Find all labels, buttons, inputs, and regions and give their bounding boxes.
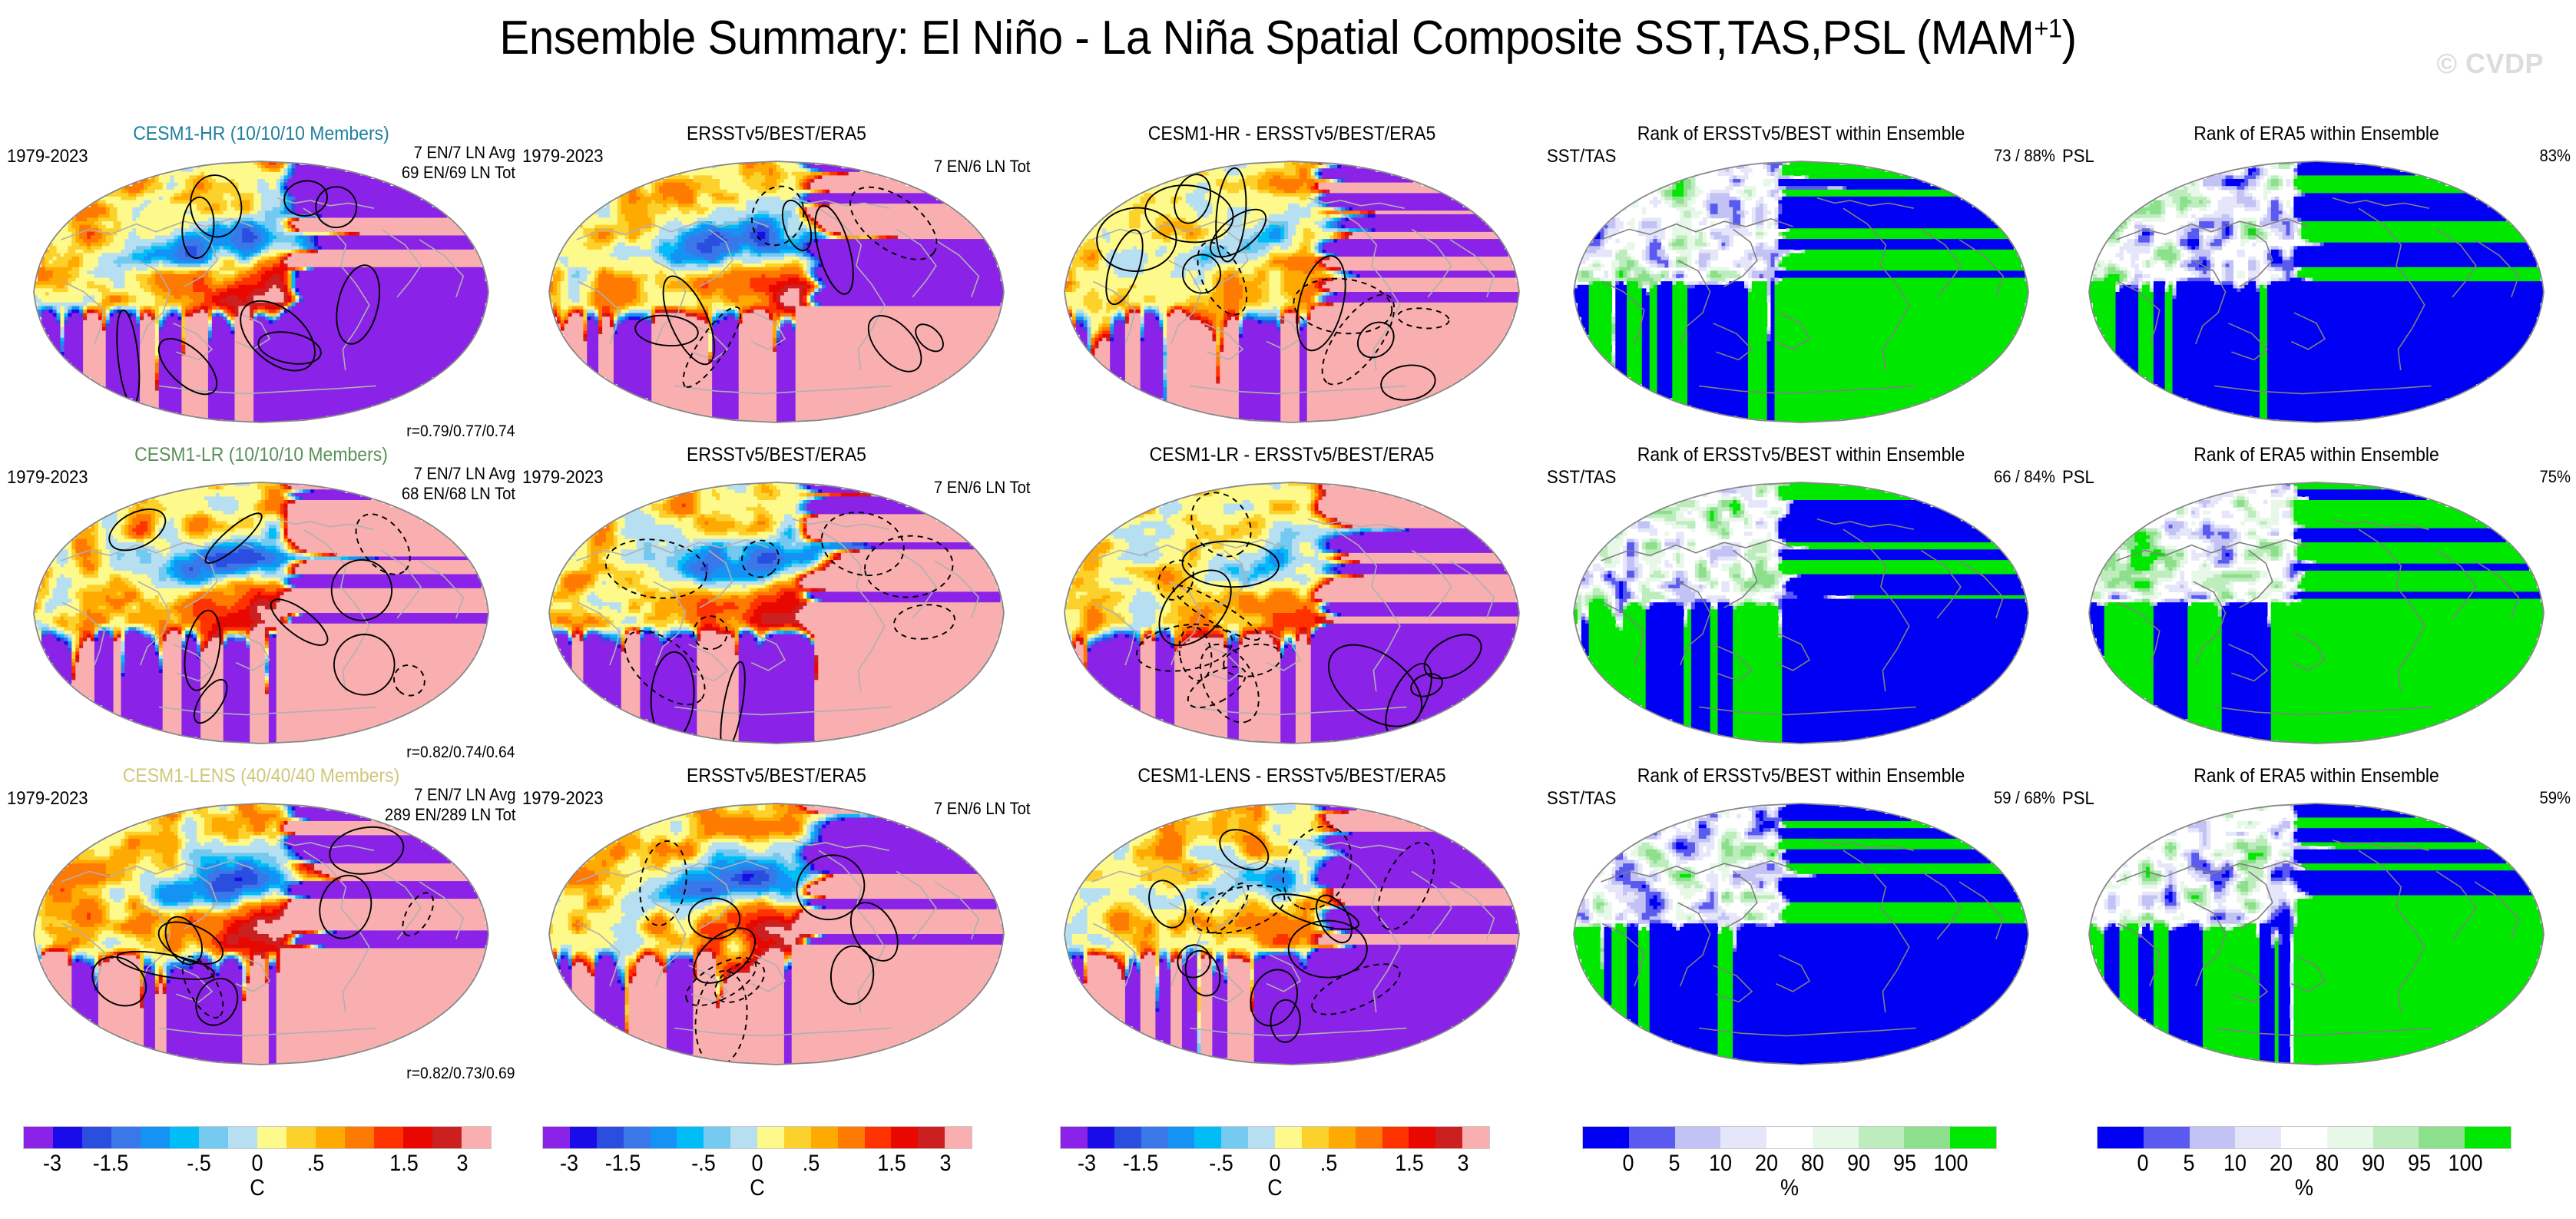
colorbar-tick: 100 xyxy=(1933,1151,1968,1177)
colorbar-swatch-13 xyxy=(891,1127,918,1148)
colorbar-tick-labels: -3-1.5-.50.51.53 xyxy=(542,1149,972,1175)
panel-title: CESM1-LENS (40/40/40 Members) xyxy=(25,765,498,787)
colorbar-swatch-11 xyxy=(345,1127,374,1148)
map-panel-r3-c4: Rank of ERSSTv5/BEST within EnsembleSST/… xyxy=(1544,765,2058,1086)
colorbar-tick-labels: -3-1.5-.50.51.53 xyxy=(23,1149,492,1175)
page-title-superscript: +1 xyxy=(2034,14,2061,43)
panel-title: CESM1-LENS - ERSSTv5/BEST/ERA5 xyxy=(1055,765,1528,787)
colorbar-swatch-14 xyxy=(918,1127,945,1148)
colorbar-tick: 90 xyxy=(2362,1151,2385,1177)
colorbar-swatch-4 xyxy=(141,1127,170,1148)
colorbar-tick: 100 xyxy=(2448,1151,2482,1177)
colorbar-swatch-11 xyxy=(838,1127,865,1148)
colorbar-5-rank: 051020809095100% xyxy=(2097,1126,2511,1175)
map-panel-r2-c2: ERSSTv5/BEST/ERA51979-20237 EN/6 LN Tot xyxy=(519,444,1034,765)
colorbar-unit-label: C xyxy=(250,1175,265,1201)
colorbar-swatch-3 xyxy=(1141,1127,1168,1148)
panel-title: CESM1-HR (10/10/10 Members) xyxy=(25,123,498,145)
globe-map xyxy=(1571,479,2031,747)
colorbar-tick: 0 xyxy=(2137,1151,2148,1177)
colorbar-unit-label: C xyxy=(1267,1175,1283,1201)
colorbar-swatch-3 xyxy=(1720,1127,1766,1148)
colorbar-swatch-15 xyxy=(945,1127,972,1148)
colorbar-swatch-7 xyxy=(730,1127,757,1148)
colorbar-swatch-6 xyxy=(704,1127,730,1148)
globe-map xyxy=(31,479,492,747)
colorbar-3-temperature: -3-1.5-.50.51.53C xyxy=(1060,1126,1490,1175)
colorbar-tick: 20 xyxy=(2270,1151,2293,1177)
colorbar-tick: 90 xyxy=(1847,1151,1870,1177)
colorbar-swatch-14 xyxy=(432,1127,462,1148)
colorbar-4-rank: 051020809095100% xyxy=(1582,1126,1997,1175)
colorbar-swatch-8 xyxy=(1950,1127,1996,1148)
colorbar-swatch-4 xyxy=(1766,1127,1813,1148)
map-panel-r3-c2: ERSSTv5/BEST/ERA51979-20237 EN/6 LN Tot xyxy=(519,765,1034,1086)
globe-map xyxy=(2086,479,2547,747)
colorbar-swatch-15 xyxy=(462,1127,491,1148)
panel-title: CESM1-LR (10/10/10 Members) xyxy=(25,444,498,466)
colorbar-swatch-7 xyxy=(2419,1127,2465,1148)
map-panel-r3-c3: CESM1-LENS - ERSSTv5/BEST/ERA5 xyxy=(1035,765,1549,1086)
colorbar-tick: -1.5 xyxy=(1123,1151,1159,1177)
colorbar-tick: 95 xyxy=(2408,1151,2431,1177)
colorbar-tick: 3 xyxy=(456,1151,468,1177)
colorbar-swatch-0 xyxy=(2098,1127,2144,1148)
colorbar-swatch-3 xyxy=(111,1127,141,1148)
colorbar-tick: -.5 xyxy=(691,1151,716,1177)
colorbar-swatches xyxy=(2097,1126,2511,1149)
colorbar-swatch-13 xyxy=(403,1127,432,1148)
colorbar-swatch-1 xyxy=(2144,1127,2190,1148)
map-panel-r2-c4: Rank of ERSSTv5/BEST within EnsembleSST/… xyxy=(1544,444,2058,765)
colorbar-tick: .5 xyxy=(307,1151,325,1177)
globe-map xyxy=(2086,158,2547,426)
globe-map xyxy=(1061,800,1522,1068)
colorbar-tick: 10 xyxy=(2223,1151,2247,1177)
globe-map xyxy=(1571,158,2031,426)
colorbar-swatch-12 xyxy=(1382,1127,1409,1148)
globe-map xyxy=(1061,158,1522,426)
colorbar-tick: 80 xyxy=(2316,1151,2339,1177)
colorbar-tick: -.5 xyxy=(1209,1151,1233,1177)
map-panel-r3-c5: Rank of ERA5 within EnsemblePSL59% xyxy=(2059,765,2574,1086)
colorbar-tick-labels: -3-1.5-.50.51.53 xyxy=(1060,1149,1490,1175)
colorbar-tick: 1.5 xyxy=(877,1151,906,1177)
colorbar-tick: 20 xyxy=(1755,1151,1778,1177)
map-panel-r2-c5: Rank of ERA5 within EnsemblePSL75% xyxy=(2059,444,2574,765)
colorbar-swatch-10 xyxy=(316,1127,345,1148)
colorbar-swatch-1 xyxy=(1629,1127,1675,1148)
colorbar-swatch-5 xyxy=(1194,1127,1221,1148)
colorbar-swatch-8 xyxy=(757,1127,784,1148)
colorbar-tick: 1.5 xyxy=(389,1151,419,1177)
colorbar-swatch-13 xyxy=(1409,1127,1435,1148)
page-title: Ensemble Summary: El Niño - La Niña Spat… xyxy=(78,11,2499,65)
colorbar-swatch-7 xyxy=(1904,1127,1950,1148)
panel-title: Rank of ERA5 within Ensemble xyxy=(2080,123,2553,145)
panel-title: CESM1-HR - ERSSTv5/BEST/ERA5 xyxy=(1055,123,1528,145)
panel-title: Rank of ERSSTv5/BEST within Ensemble xyxy=(1564,444,2038,466)
colorbar-swatch-0 xyxy=(24,1127,53,1148)
map-panel-r2-c3: CESM1-LR - ERSSTv5/BEST/ERA5 xyxy=(1035,444,1549,765)
colorbar-swatch-9 xyxy=(784,1127,811,1148)
map-panel-r1-c5: Rank of ERA5 within EnsemblePSL83% xyxy=(2059,123,2574,444)
globe-map xyxy=(31,158,492,426)
colorbar-swatch-14 xyxy=(1435,1127,1462,1148)
colorbar-swatch-5 xyxy=(677,1127,704,1148)
globe-map xyxy=(2086,800,2547,1068)
panel-title: ERSSTv5/BEST/ERA5 xyxy=(540,444,1013,466)
colorbar-swatch-1 xyxy=(570,1127,597,1148)
colorbar-tick: -1.5 xyxy=(93,1151,129,1177)
colorbar-tick: 3 xyxy=(1457,1151,1468,1177)
colorbar-swatch-2 xyxy=(1114,1127,1141,1148)
map-panel-r3-c1: CESM1-LENS (40/40/40 Members)1979-20237 … xyxy=(4,765,518,1086)
copyright-label: © CVDP xyxy=(2436,48,2544,80)
colorbar-swatches xyxy=(542,1126,972,1149)
colorbar-swatch-6 xyxy=(1221,1127,1248,1148)
colorbar-swatch-0 xyxy=(543,1127,570,1148)
colorbar-swatch-10 xyxy=(811,1127,838,1148)
panel-title: Rank of ERSSTv5/BEST within Ensemble xyxy=(1564,123,2038,145)
colorbar-swatch-0 xyxy=(1583,1127,1629,1148)
colorbar-2-temperature: -3-1.5-.50.51.53C xyxy=(542,1126,972,1175)
colorbar-swatch-9 xyxy=(1302,1127,1329,1148)
colorbar-swatch-2 xyxy=(82,1127,111,1148)
colorbar-tick: 5 xyxy=(2183,1151,2194,1177)
colorbar-swatch-4 xyxy=(1168,1127,1195,1148)
map-panel-r1-c2: ERSSTv5/BEST/ERA51979-20237 EN/6 LN Tot xyxy=(519,123,1034,444)
colorbar-swatches xyxy=(23,1126,492,1149)
colorbar-unit-label: % xyxy=(2295,1175,2313,1201)
globe-map xyxy=(546,479,1007,747)
map-panel-r1-c1: CESM1-HR (10/10/10 Members)1979-20237 EN… xyxy=(4,123,518,444)
map-panel-r1-c3: CESM1-HR - ERSSTv5/BEST/ERA5 xyxy=(1035,123,1549,444)
colorbar-swatch-1 xyxy=(53,1127,82,1148)
colorbar-swatch-11 xyxy=(1356,1127,1382,1148)
colorbar-unit-label: % xyxy=(1780,1175,1799,1201)
colorbar-tick: -3 xyxy=(1078,1151,1096,1177)
colorbar-tick: .5 xyxy=(803,1151,820,1177)
page-title-close: ) xyxy=(2062,12,2077,65)
colorbar-tick: 10 xyxy=(1709,1151,1732,1177)
colorbar-swatch-2 xyxy=(1675,1127,1721,1148)
map-panel-r2-c1: CESM1-LR (10/10/10 Members)1979-20237 EN… xyxy=(4,444,518,765)
map-panel-r1-c4: Rank of ERSSTv5/BEST within EnsembleSST/… xyxy=(1544,123,2058,444)
colorbar-1-temperature: -3-1.5-.50.51.53C xyxy=(23,1126,492,1175)
panel-title: Rank of ERSSTv5/BEST within Ensemble xyxy=(1564,765,2038,787)
colorbar-tick-labels: 051020809095100 xyxy=(2097,1149,2511,1175)
colorbar-swatch-4 xyxy=(2281,1127,2327,1148)
panel-title: CESM1-LR - ERSSTv5/BEST/ERA5 xyxy=(1055,444,1528,466)
colorbar-swatch-6 xyxy=(199,1127,228,1148)
colorbar-tick: 0 xyxy=(751,1151,763,1177)
colorbar-tick: 5 xyxy=(1668,1151,1680,1177)
colorbar-tick: 3 xyxy=(939,1151,951,1177)
colorbar-swatch-5 xyxy=(1813,1127,1859,1148)
colorbar-swatch-12 xyxy=(865,1127,892,1148)
colorbar-tick: -1.5 xyxy=(605,1151,641,1177)
colorbar-swatch-0 xyxy=(1061,1127,1088,1148)
colorbar-tick: 95 xyxy=(1893,1151,1916,1177)
colorbar-swatches xyxy=(1582,1126,1997,1149)
colorbar-tick: .5 xyxy=(1320,1151,1338,1177)
colorbar-swatch-6 xyxy=(1859,1127,1905,1148)
globe-map xyxy=(546,158,1007,426)
colorbar-swatch-10 xyxy=(1329,1127,1356,1148)
page-title-main: Ensemble Summary: El Niño - La Niña Spat… xyxy=(499,12,2034,65)
colorbar-swatches xyxy=(1060,1126,1490,1149)
colorbar-swatch-3 xyxy=(624,1127,651,1148)
panel-title: Rank of ERA5 within Ensemble xyxy=(2080,444,2553,466)
colorbar-swatch-5 xyxy=(170,1127,199,1148)
colorbar-swatch-9 xyxy=(286,1127,316,1148)
colorbar-swatch-2 xyxy=(597,1127,624,1148)
colorbar-swatch-15 xyxy=(1462,1127,1489,1148)
colorbar-swatch-2 xyxy=(2190,1127,2236,1148)
colorbar-swatch-8 xyxy=(2465,1127,2511,1148)
colorbar-tick: -3 xyxy=(43,1151,61,1177)
colorbar-swatch-6 xyxy=(2373,1127,2419,1148)
colorbar-swatch-8 xyxy=(1275,1127,1302,1148)
colorbar-tick: -3 xyxy=(560,1151,578,1177)
colorbar-tick-labels: 051020809095100 xyxy=(1582,1149,1997,1175)
globe-map xyxy=(1061,479,1522,747)
colorbar-swatch-8 xyxy=(257,1127,286,1148)
colorbar-swatch-12 xyxy=(374,1127,403,1148)
globe-map xyxy=(1571,800,2031,1068)
colorbar-swatch-3 xyxy=(2235,1127,2281,1148)
colorbar-tick: 0 xyxy=(1622,1151,1634,1177)
colorbar-tick: 80 xyxy=(1801,1151,1824,1177)
colorbar-tick: 0 xyxy=(251,1151,263,1177)
colorbar-unit-label: C xyxy=(750,1175,765,1201)
colorbar-swatch-4 xyxy=(651,1127,677,1148)
panel-title: ERSSTv5/BEST/ERA5 xyxy=(540,123,1013,145)
panel-title: Rank of ERA5 within Ensemble xyxy=(2080,765,2553,787)
colorbar-swatch-7 xyxy=(1248,1127,1275,1148)
colorbar-tick: 0 xyxy=(1269,1151,1280,1177)
colorbar-tick: -.5 xyxy=(187,1151,211,1177)
panel-title: ERSSTv5/BEST/ERA5 xyxy=(540,765,1013,787)
globe-map xyxy=(546,800,1007,1068)
globe-map xyxy=(31,800,492,1068)
colorbar-swatch-1 xyxy=(1088,1127,1114,1148)
colorbar-tick: 1.5 xyxy=(1395,1151,1424,1177)
colorbar-swatch-5 xyxy=(2327,1127,2373,1148)
colorbar-swatch-7 xyxy=(228,1127,257,1148)
